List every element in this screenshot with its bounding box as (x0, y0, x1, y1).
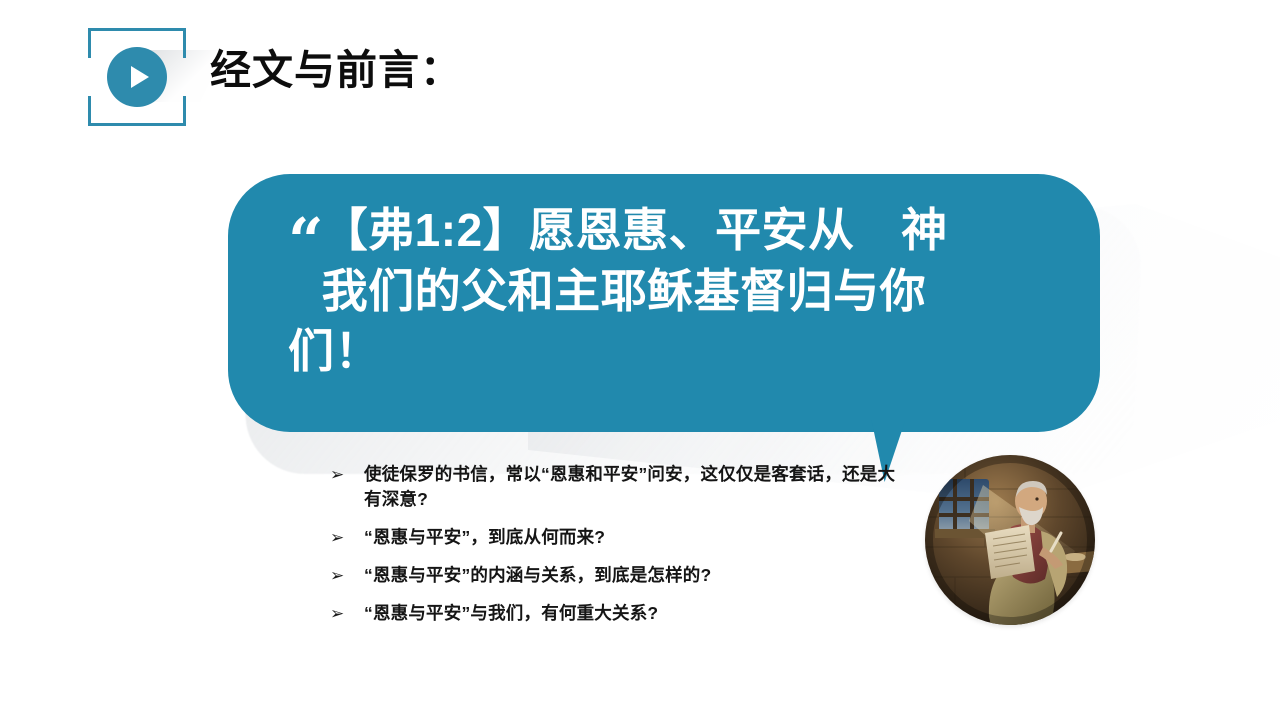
list-item: ➢ “恩惠与平安”与我们，有何重大关系? (330, 601, 910, 626)
frame-right-bottom-line (183, 96, 186, 126)
list-item-label: “恩惠与平安”与我们，有何重大关系? (364, 601, 910, 626)
play-logo-frame (88, 28, 186, 126)
arrow-bullet-icon: ➢ (330, 601, 364, 626)
frame-top-line (88, 28, 186, 31)
quote-bubble: “ 【弗1:2】愿恩惠、平安从 神 我们的父和主耶稣基督归与你 们！ (228, 174, 1100, 434)
quote-line-3: 们！ (288, 321, 1078, 382)
frame-bottom-line (88, 123, 186, 126)
list-item: ➢ “恩惠与平安”的内涵与关系，到底是怎样的? (330, 563, 910, 588)
arrow-bullet-icon: ➢ (330, 563, 364, 588)
list-item: ➢ “恩惠与平安”，到底从何而来? (330, 525, 910, 550)
list-item: ➢ 使徒保罗的书信，常以“恩惠和平安”问安，这仅仅是客套话，还是大有深意? (330, 462, 910, 512)
avatar (925, 455, 1095, 625)
question-list: ➢ 使徒保罗的书信，常以“恩惠和平安”问安，这仅仅是客套话，还是大有深意? ➢ … (330, 462, 910, 639)
list-item-label: “恩惠与平安”，到底从何而来? (364, 525, 910, 550)
quote-text-block: “ 【弗1:2】愿恩惠、平安从 神 我们的父和主耶稣基督归与你 们！ (288, 200, 1078, 382)
play-triangle-icon (131, 66, 149, 88)
frame-left-bottom-line (88, 96, 91, 126)
frame-left-top-line (88, 28, 91, 58)
frame-right-top-line (183, 28, 186, 58)
slide-root: 经文与前言： “ 【弗1:2】愿恩惠、平安从 神 我们的父和主耶稣基督归与你 们… (0, 0, 1280, 720)
quote-line-1: 【弗1:2】愿恩惠、平安从 神 (288, 200, 1078, 261)
slide-header: 经文与前言： (0, 0, 1280, 150)
arrow-bullet-icon: ➢ (330, 525, 364, 550)
arrow-bullet-icon: ➢ (330, 462, 364, 487)
apostle-paul-image (925, 455, 1095, 625)
open-quote-icon: “ (288, 216, 320, 267)
list-item-label: “恩惠与平安”的内涵与关系，到底是怎样的? (364, 563, 910, 588)
page-title: 经文与前言： (210, 50, 462, 91)
list-item-label: 使徒保罗的书信，常以“恩惠和平安”问安，这仅仅是客套话，还是大有深意? (364, 462, 910, 512)
play-icon[interactable] (107, 47, 167, 107)
quote-line-2: 我们的父和主耶稣基督归与你 (288, 261, 1078, 322)
